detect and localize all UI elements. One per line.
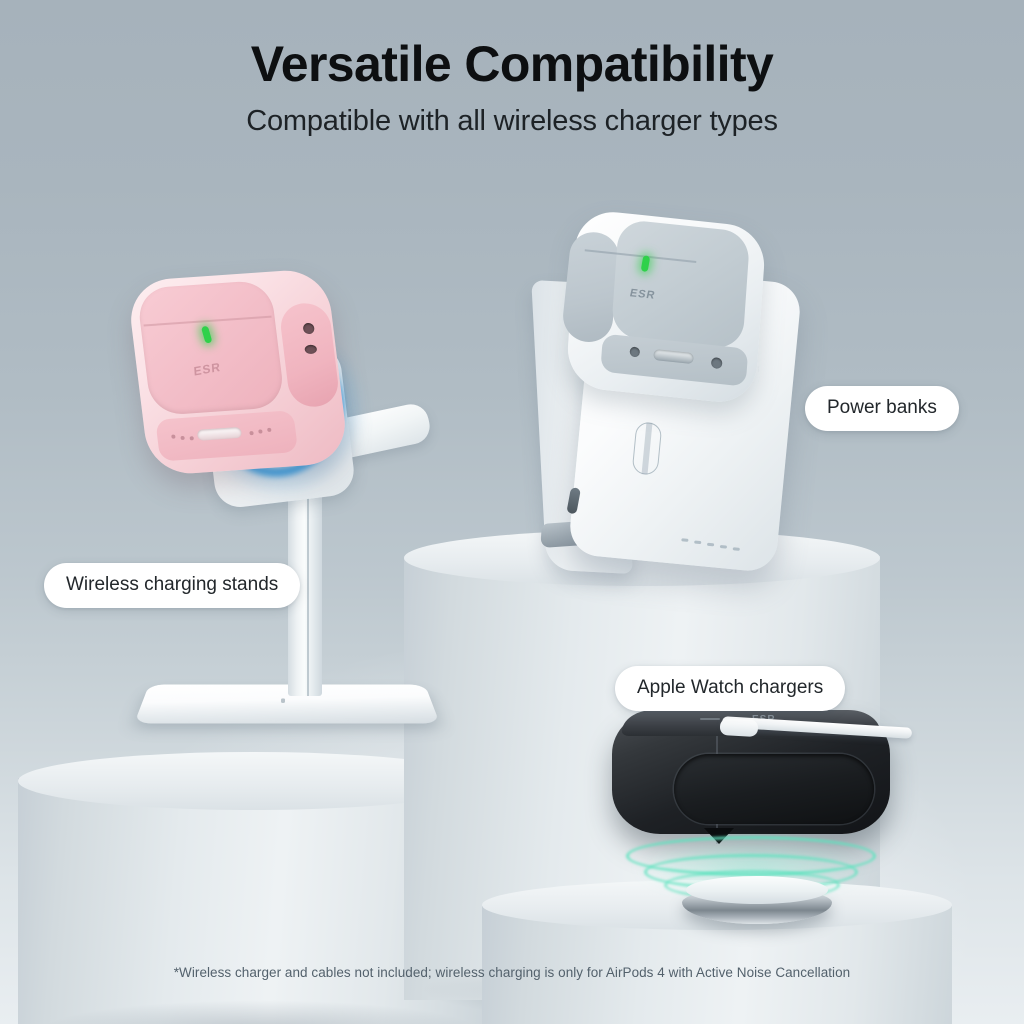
page-subtitle: Compatible with all wireless charger typ… [0, 105, 1024, 138]
apple-watch-charger-puck [682, 876, 832, 930]
callout-power-banks: Power banks [805, 386, 959, 431]
puck-charging-surface [686, 876, 828, 904]
callout-apple-watch-chargers: Apple Watch chargers [615, 666, 845, 711]
grey-case-side-panel [561, 229, 622, 345]
battery-led-dot [733, 547, 740, 551]
magnet-indicator-icon [632, 421, 663, 475]
footnote-disclaimer: *Wireless charger and cables not include… [0, 965, 1024, 980]
grey-case-lid [611, 219, 751, 351]
wireless-charging-stand: ESR [120, 262, 470, 762]
airpods-case-pink: ESR [126, 268, 350, 477]
pink-case-side-panel [278, 302, 341, 409]
pink-case-lid [136, 280, 285, 416]
apple-watch-charger-group: ESR [590, 700, 920, 940]
battery-led-dot [681, 538, 688, 542]
callout-wireless-charging-stands: Wireless charging stands [44, 563, 300, 608]
airpods-case-grey: ESR [565, 208, 766, 405]
stand-base [134, 685, 440, 724]
battery-led-dot [707, 543, 714, 547]
product-feature-image: Versatile Compatibility Compatible with … [0, 0, 1024, 1024]
charger-cable-connector [720, 718, 759, 737]
stand-base-indicator [281, 698, 285, 703]
page-title: Versatile Compatibility [0, 38, 1024, 91]
black-case-seam [700, 718, 720, 720]
esr-logo: ESR [629, 287, 657, 301]
power-bank: ESR [505, 222, 845, 572]
black-case-earbud-well [674, 754, 874, 824]
battery-led-dot [694, 540, 701, 544]
battery-led-dot [720, 545, 727, 549]
heading-block: Versatile Compatibility Compatible with … [0, 38, 1024, 138]
